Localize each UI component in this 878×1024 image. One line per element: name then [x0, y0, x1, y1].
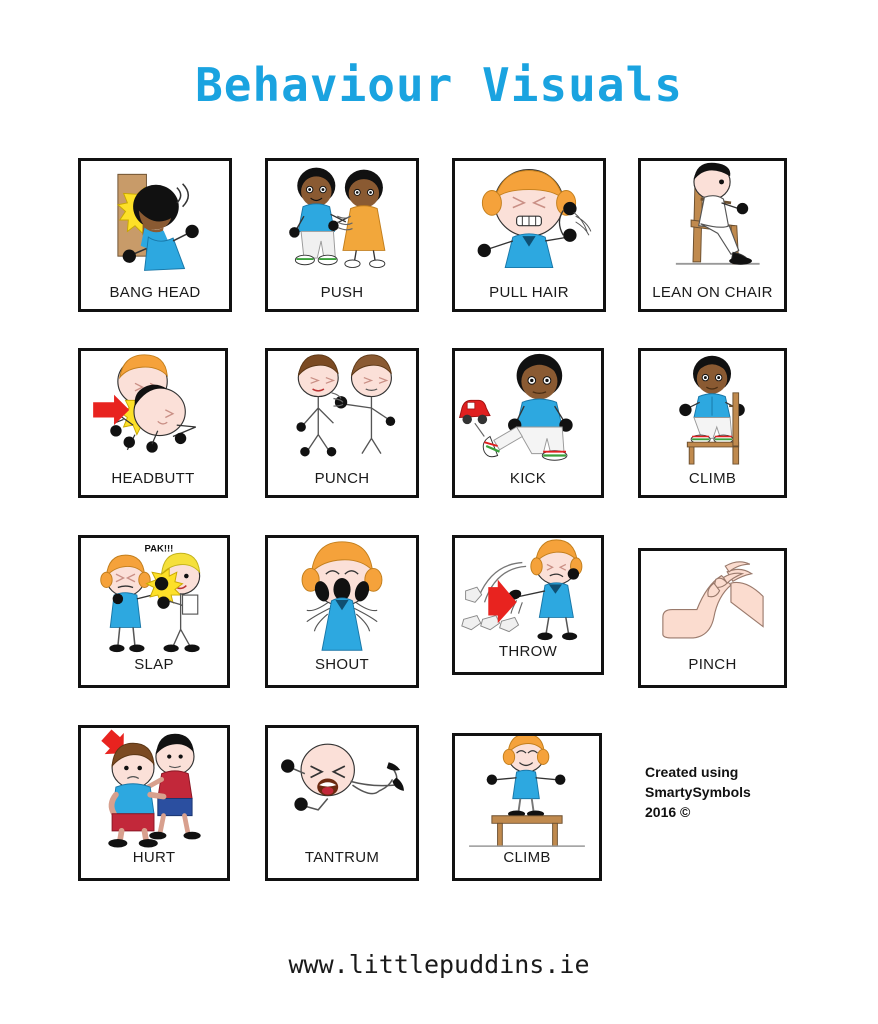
behaviour-card-hurt[interactable]: HURT [78, 725, 230, 881]
girl-slapping-boy-icon: PAK!!! [81, 538, 227, 655]
child-banging-head-on-wall-icon [81, 161, 229, 279]
behaviour-card-shout[interactable]: SHOUT [265, 535, 419, 688]
boy-kicking-toy-car-icon [455, 351, 601, 465]
boy-hurting-boy-icon [81, 728, 227, 848]
behaviour-card-bang-head[interactable]: BANG HEAD [78, 158, 232, 312]
behaviour-card-push[interactable]: PUSH [265, 158, 419, 312]
behaviour-card-label: SHOUT [268, 656, 416, 673]
attribution-block: Created using SmartySymbols 2016 © [645, 762, 845, 822]
girl-standing-on-table-icon [455, 736, 599, 848]
behaviour-card-label: PUNCH [268, 470, 416, 487]
behaviour-card-label: PINCH [641, 656, 784, 673]
child-having-tantrum-on-floor-icon [268, 728, 416, 848]
child-punching-child-icon [268, 351, 416, 465]
behaviour-card-slap[interactable]: PAK!!! [78, 535, 230, 688]
behaviour-card-label: PULL HAIR [455, 284, 603, 301]
behaviour-card-climb-chair[interactable]: CLIMB [638, 348, 787, 498]
behaviour-card-label: THROW [455, 643, 601, 660]
behaviour-card-label: HEADBUTT [81, 470, 225, 487]
behaviour-card-punch[interactable]: PUNCH [265, 348, 419, 498]
attribution-line-3: 2016 © [645, 802, 845, 822]
behaviour-card-tantrum[interactable]: TANTRUM [265, 725, 419, 881]
girl-pulling-own-hair-icon [455, 161, 603, 279]
behaviour-card-pull-hair[interactable]: PULL HAIR [452, 158, 606, 312]
behaviour-card-label: HURT [81, 849, 227, 866]
footer-website: www.littlepuddins.ie [0, 950, 878, 979]
behaviour-visuals-page: Behaviour Visuals [0, 0, 878, 1024]
behaviour-card-label: PUSH [268, 284, 416, 301]
attribution-line-1: Created using [645, 762, 845, 782]
svg-text:PAK!!!: PAK!!! [144, 543, 173, 554]
girl-shouting-icon [268, 538, 416, 655]
boy-leaning-back-on-chair-icon [641, 161, 784, 279]
child-headbutting-child-icon [81, 351, 225, 465]
behaviour-card-label: CLIMB [641, 470, 784, 487]
behaviour-card-label: TANTRUM [268, 849, 416, 866]
behaviour-card-pinch[interactable]: PINCH [638, 548, 787, 688]
behaviour-card-throw[interactable]: THROW [452, 535, 604, 675]
behaviour-card-label: SLAP [81, 656, 227, 673]
attribution-line-2: SmartySymbols [645, 782, 845, 802]
behaviour-card-label: CLIMB [455, 849, 599, 866]
behaviour-card-headbutt[interactable]: HEADBUTT [78, 348, 228, 498]
boy-standing-on-chair-icon [641, 351, 784, 465]
behaviour-card-label: BANG HEAD [81, 284, 229, 301]
behaviour-card-lean-on-chair[interactable]: LEAN ON CHAIR [638, 158, 787, 312]
child-pushing-child-icon [268, 161, 416, 279]
hand-pinching-arm-icon [641, 551, 784, 655]
behaviour-card-climb-table[interactable]: CLIMB [452, 733, 602, 881]
behaviour-card-label: KICK [455, 470, 601, 487]
behaviour-card-kick[interactable]: KICK [452, 348, 604, 498]
girl-throwing-paper-icon [455, 538, 601, 642]
behaviour-card-label: LEAN ON CHAIR [641, 284, 784, 301]
behaviour-card-grid: BANG HEAD [0, 0, 878, 1024]
